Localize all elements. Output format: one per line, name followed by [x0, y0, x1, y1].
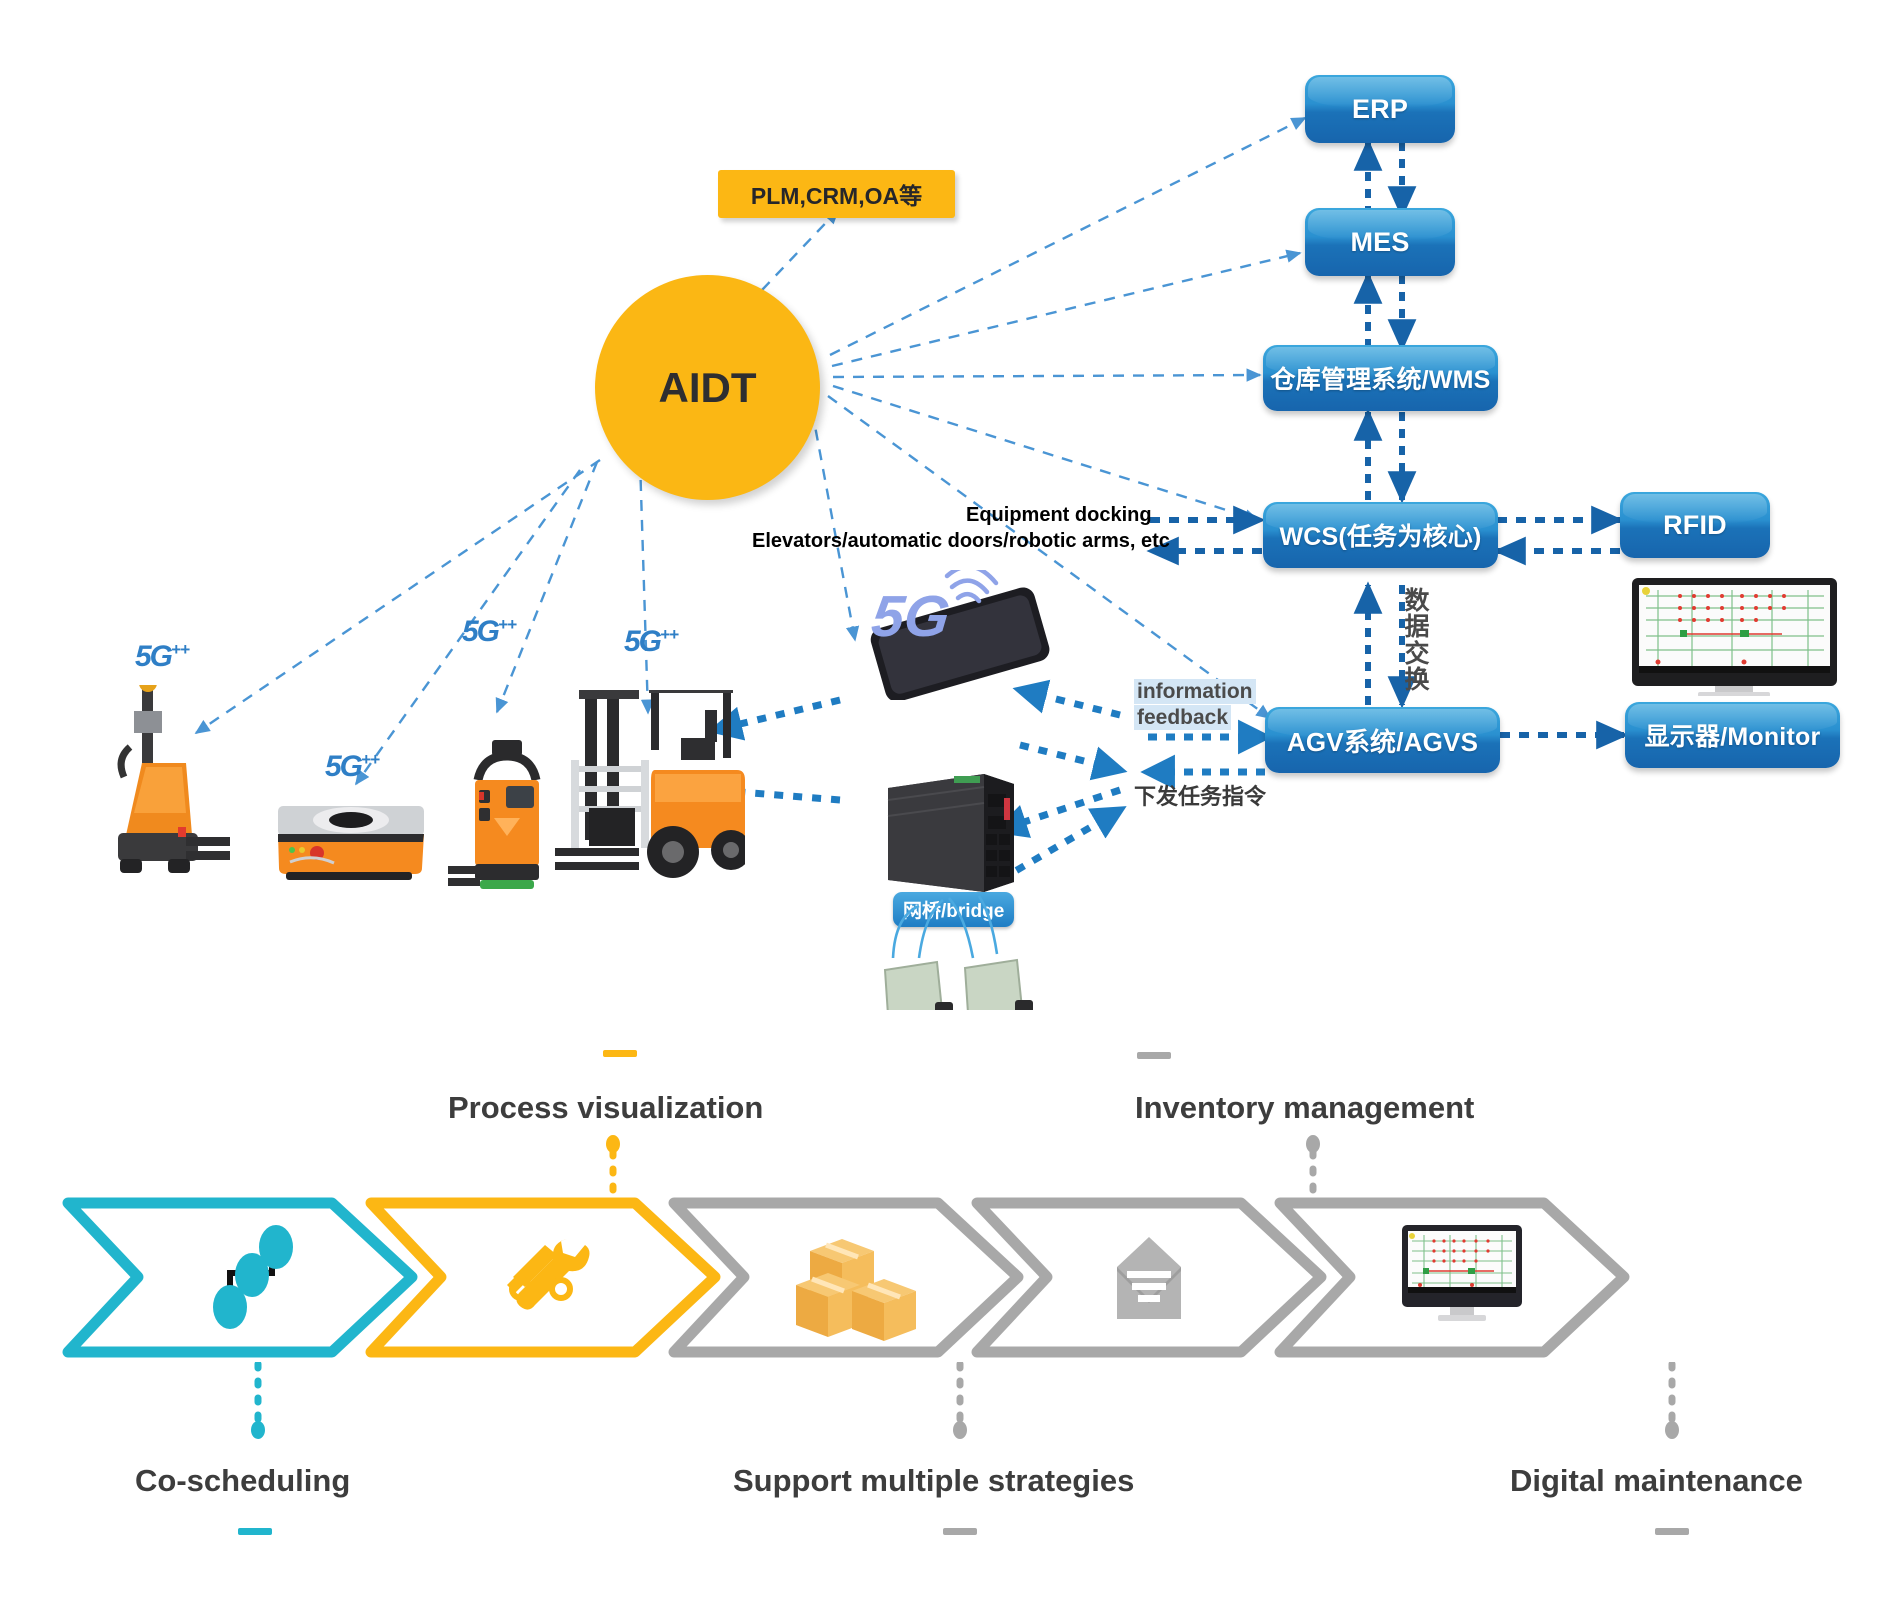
- five-g-icon-3: 5G++: [462, 615, 516, 649]
- agvs-label: AGV系统/AGVS: [1287, 722, 1478, 759]
- agv-forklift-icon: [555, 690, 745, 905]
- monitor-label: 显示器/Monitor: [1645, 717, 1821, 753]
- agvs-box[interactable]: AGV系统/AGVS: [1265, 707, 1500, 773]
- band-chevron-digital-maintenance[interactable]: [1272, 1195, 1632, 1360]
- wcs-box[interactable]: WCS(任务为核心): [1263, 502, 1498, 568]
- information-feedback-line1: information: [1134, 680, 1256, 704]
- plm-crm-oa-label: PLM,CRM,OA等: [751, 177, 922, 211]
- band-title-inventory-management: Inventory management: [1135, 1090, 1474, 1126]
- five-g-icon-4: 5G++: [624, 625, 678, 659]
- plm-crm-oa-box[interactable]: PLM,CRM,OA等: [718, 170, 955, 218]
- monitor-icon: [1402, 1225, 1522, 1321]
- envelope-icon: [1117, 1237, 1181, 1319]
- rfid-box[interactable]: RFID: [1620, 492, 1770, 558]
- wcs-label: WCS(任务为核心): [1280, 517, 1482, 553]
- phone-5g-icon: 5G: [855, 570, 1055, 700]
- boxes-icon: [796, 1239, 916, 1341]
- agv-low-profile-icon: [272, 800, 432, 885]
- band-tick-process-top: [603, 1050, 637, 1057]
- band-title-digital-maintenance: Digital maintenance: [1510, 1463, 1803, 1499]
- band-connector-below: [0, 1362, 1900, 1452]
- tools-icon: [507, 1239, 590, 1310]
- band-tick-co-scheduling: [238, 1528, 272, 1535]
- aidt-hub[interactable]: AIDT: [595, 275, 820, 500]
- bridge-antenna-icons: [865, 880, 1085, 1010]
- network-nodes-icon: [213, 1225, 293, 1329]
- erp-label: ERP: [1352, 94, 1408, 125]
- mes-box[interactable]: MES: [1305, 208, 1455, 276]
- data-exchange-label: 数据交换: [1404, 588, 1430, 693]
- band-tick-digital-maintenance: [1655, 1528, 1689, 1535]
- task-dispatch-label: 下发任务指令: [1134, 779, 1266, 811]
- monitor-box[interactable]: 显示器/Monitor: [1625, 702, 1840, 768]
- band-tick-support-strategies: [943, 1528, 977, 1535]
- band-title-process-visualization: Process visualization: [448, 1090, 763, 1126]
- information-feedback-line2: feedback: [1134, 706, 1231, 730]
- agv-stacker-icon: [448, 740, 568, 900]
- agv-map-monitor-icon: [1632, 578, 1837, 696]
- band-tick-process-visualization: [1137, 1052, 1171, 1059]
- band-title-support-strategies: Support multiple strategies: [733, 1463, 1134, 1499]
- rfid-label: RFID: [1663, 510, 1727, 541]
- band-title-co-scheduling: Co-scheduling: [135, 1463, 350, 1499]
- equipment-docking-line2: Elevators/automatic doors/robotic arms, …: [752, 530, 1170, 553]
- agv-pallet-stacker-icon: [90, 685, 230, 880]
- erp-box[interactable]: ERP: [1305, 75, 1455, 143]
- equipment-docking-line1: Equipment docking: [966, 504, 1152, 527]
- wms-box[interactable]: 仓库管理系统/WMS: [1263, 345, 1498, 411]
- svg-text:5G: 5G: [869, 584, 953, 649]
- mes-label: MES: [1350, 227, 1409, 258]
- aidt-label: AIDT: [659, 364, 757, 412]
- five-g-icon-2: 5G++: [325, 750, 379, 784]
- wms-label: 仓库管理系统/WMS: [1270, 360, 1490, 396]
- five-g-icon-1: 5G++: [135, 640, 189, 674]
